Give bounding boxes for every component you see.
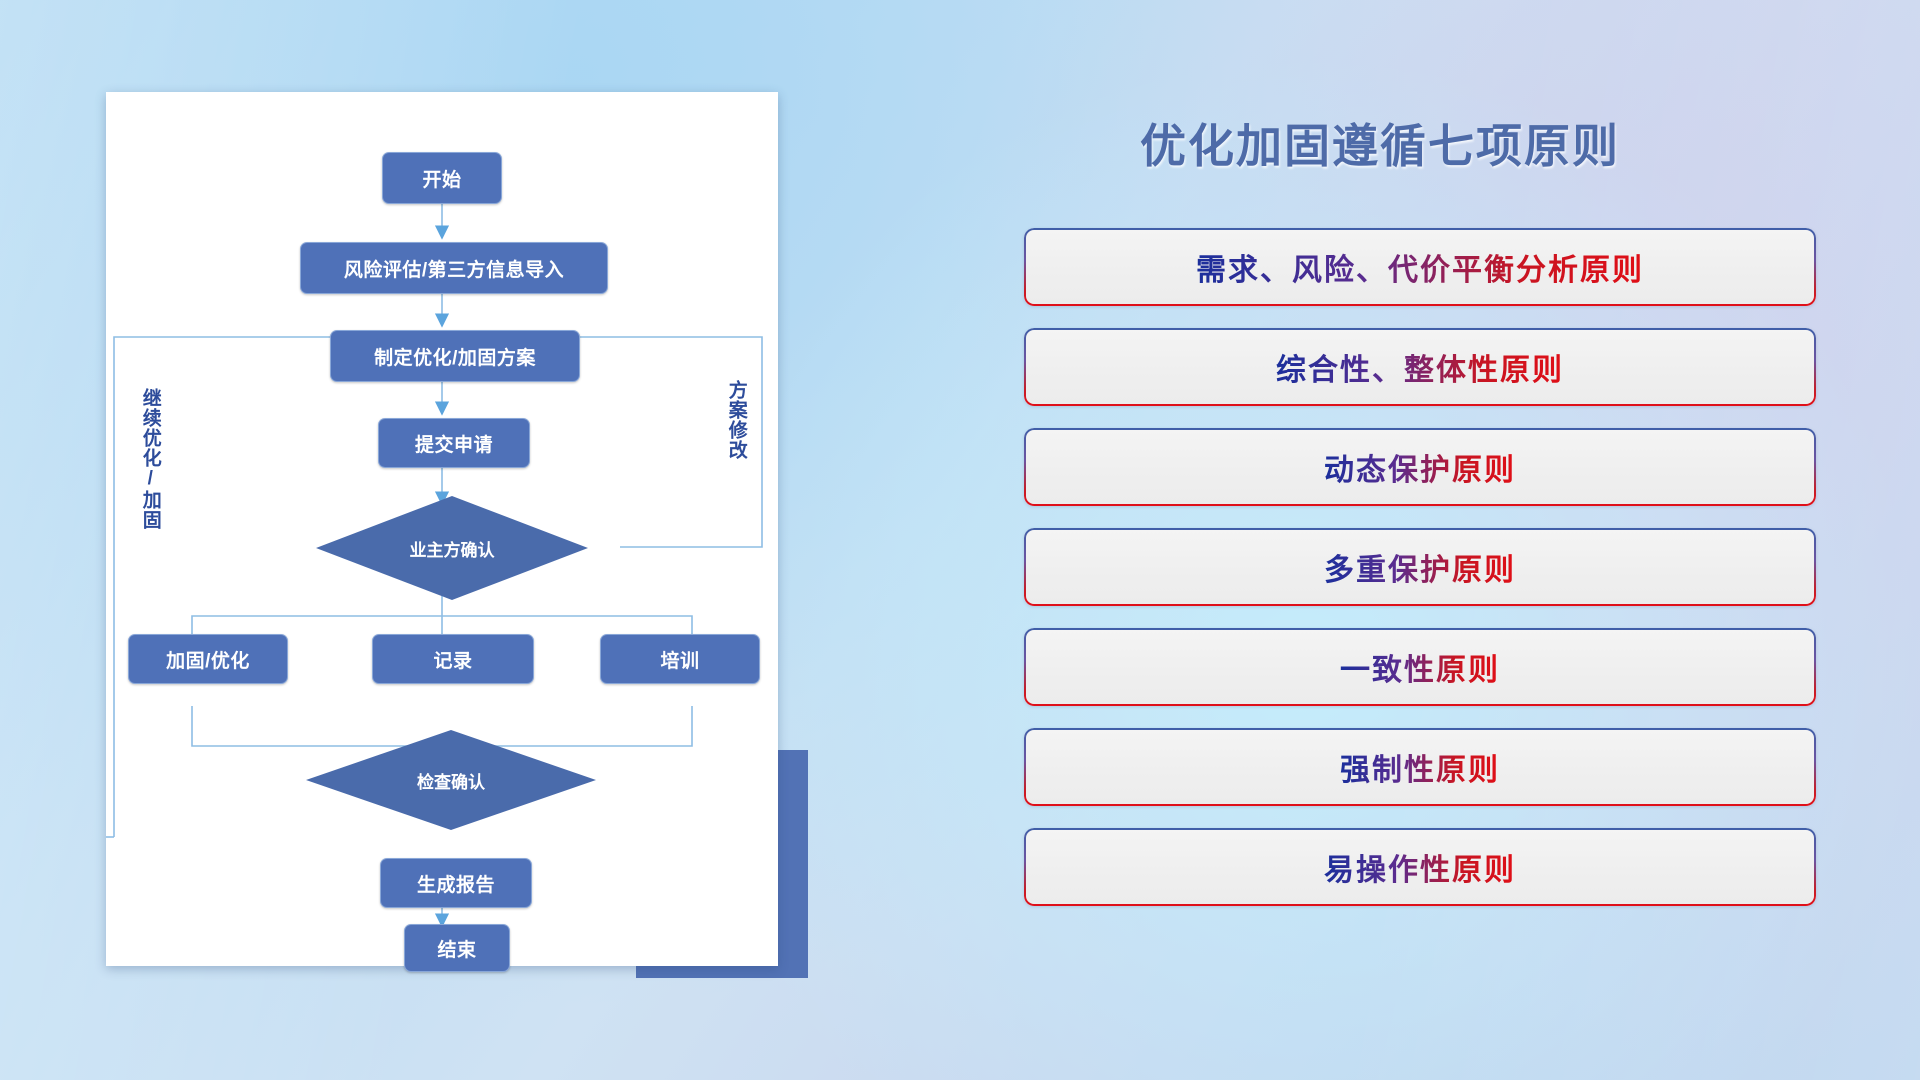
principle-item[interactable]: 动态保护原则 [1024,428,1816,506]
flow-node-record[interactable]: 记录 [372,634,534,684]
flow-node-submit[interactable]: 提交申请 [378,418,530,468]
principle-label: 强制性原则 [1340,745,1500,789]
principle-label: 需求、风险、代价平衡分析原则 [1196,245,1644,289]
flow-node-report[interactable]: 生成报告 [380,858,532,908]
principle-label: 易操作性原则 [1324,845,1516,889]
flow-edge-label-continue-optimize: 继续优化/加固 [140,388,160,568]
principles-list: 需求、风险、代价平衡分析原则 综合性、整体性原则 动态保护原则 多重保护原则 一… [1024,228,1816,928]
flow-node-risk[interactable]: 风险评估/第三方信息导入 [300,242,608,294]
flow-node-train[interactable]: 培训 [600,634,760,684]
principle-item[interactable]: 综合性、整体性原则 [1024,328,1816,406]
flow-node-reinforce[interactable]: 加固/优化 [128,634,288,684]
principle-item[interactable]: 需求、风险、代价平衡分析原则 [1024,228,1816,306]
flow-node-start[interactable]: 开始 [382,152,502,204]
flow-edge-label-plan-revision: 方案修改 [726,380,746,530]
flow-node-end[interactable]: 结束 [404,924,510,972]
flow-node-plan[interactable]: 制定优化/加固方案 [330,330,580,382]
principle-item[interactable]: 一致性原则 [1024,628,1816,706]
principle-label: 一致性原则 [1340,645,1500,689]
principles-panel-title: 优化加固遵循七项原则 [1030,110,1730,176]
principle-label: 综合性、整体性原则 [1276,345,1564,389]
principle-item[interactable]: 易操作性原则 [1024,828,1816,906]
principle-item[interactable]: 强制性原则 [1024,728,1816,806]
principle-item[interactable]: 多重保护原则 [1024,528,1816,606]
principle-label: 动态保护原则 [1324,445,1516,489]
principle-label: 多重保护原则 [1324,545,1516,589]
